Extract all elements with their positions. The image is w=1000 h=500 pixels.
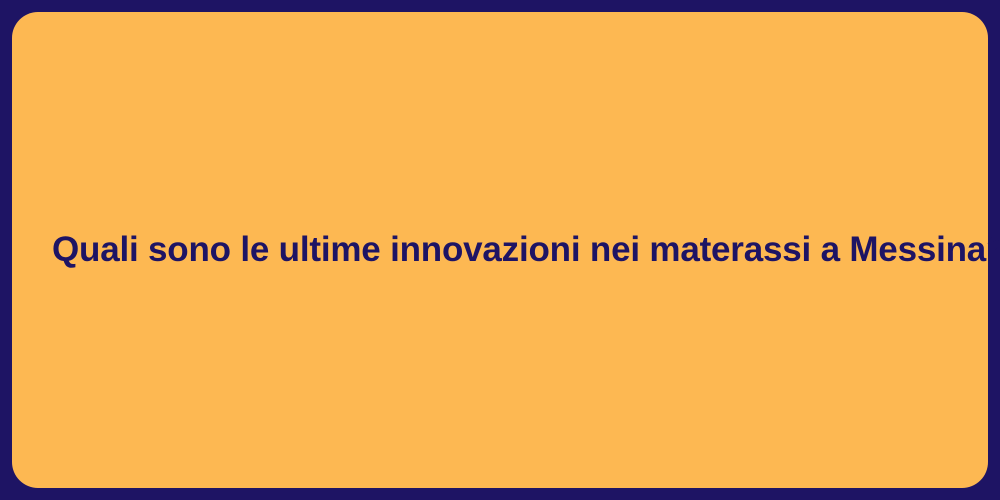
content-card: Quali sono le ultime innovazioni nei mat… <box>12 12 988 488</box>
headline-text: Quali sono le ultime innovazioni nei mat… <box>52 228 948 272</box>
card-frame: Quali sono le ultime innovazioni nei mat… <box>0 0 1000 500</box>
card-body: Quali sono le ultime innovazioni nei mat… <box>12 228 988 272</box>
